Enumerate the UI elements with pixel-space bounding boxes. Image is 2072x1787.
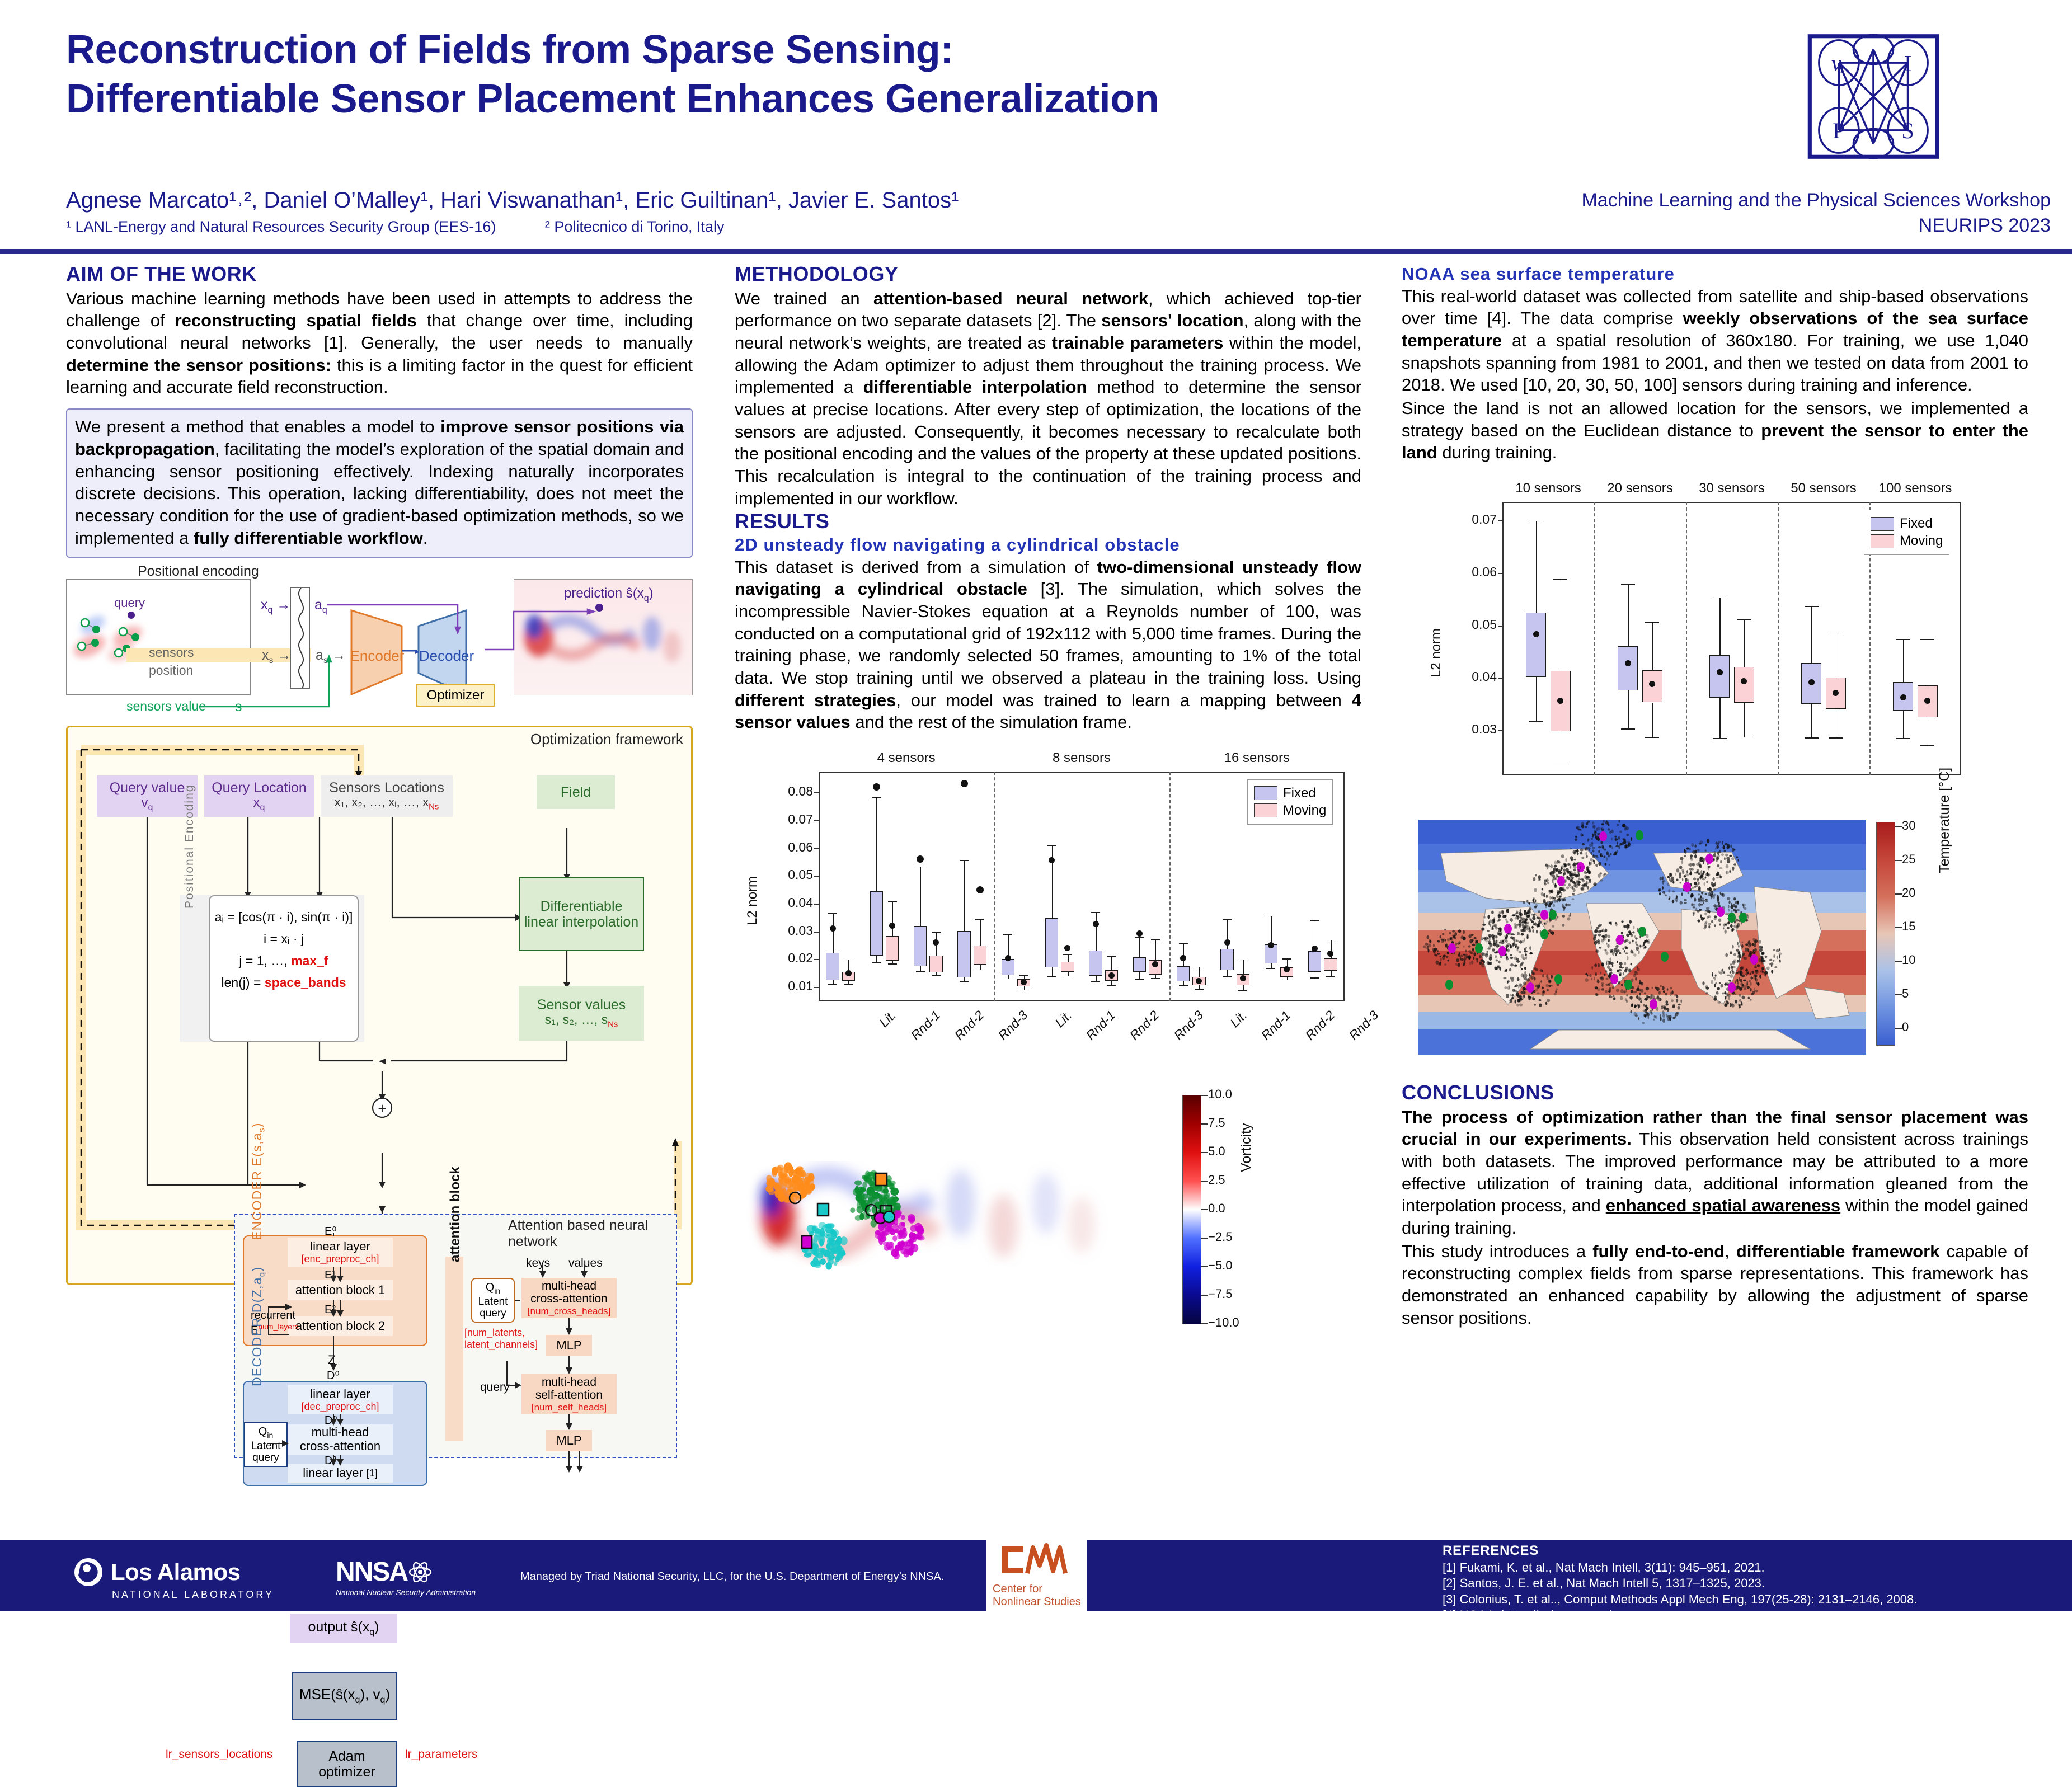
sensor-path-dot: [1730, 844, 1732, 848]
sensor-path-dot: [1554, 860, 1557, 864]
sensor-path-dot: [1425, 943, 1429, 946]
sensor-path-dot: [1646, 987, 1649, 990]
sensor-path-dot: [1523, 987, 1526, 990]
whisker-lower: [1628, 690, 1629, 729]
sensor-path-dot: [1516, 910, 1518, 914]
sensor-path-dot: [1562, 915, 1566, 918]
cap-lower: [1003, 979, 1012, 980]
sensor-path-dot: [1739, 999, 1741, 1002]
decoder-side-label: DECODER D(Z,aq): [250, 1286, 267, 1386]
sensor-path-dot: [1609, 845, 1611, 848]
y-axis-tick: 0.07: [765, 812, 813, 827]
sensor-path-dot: [1502, 915, 1506, 918]
sensor-path-dot: [1609, 831, 1611, 834]
sensor-path-dot: [1523, 990, 1525, 994]
cap-upper: [1920, 639, 1934, 641]
sensor-path-dot: [1727, 922, 1730, 925]
title-line-1: Reconstruction of Fields from Sparse Sen…: [66, 26, 1364, 75]
sensor-path-dot: [1526, 913, 1528, 914]
sensor-path-dot: [1749, 953, 1752, 956]
sensor-path-dot: [1704, 925, 1707, 928]
noaa-text-1: This real-world dataset was collected fr…: [1402, 285, 2028, 396]
x-axis-tick-label: Rnd-3: [1335, 1008, 1382, 1054]
E2-label: E²: [325, 1304, 336, 1316]
sensor-path-dot: [1542, 970, 1543, 972]
sensor-path-dot: [1741, 982, 1743, 986]
box-plot-box: [870, 891, 884, 956]
svg-text:+: +: [378, 1100, 386, 1117]
sensor-path-dot: [1722, 993, 1724, 995]
sensor-path-dot: [1728, 909, 1730, 912]
sensor-path-dot: [1752, 949, 1754, 952]
sensor-path-dot: [1526, 935, 1528, 939]
sensor-path-dot: [1599, 947, 1601, 949]
sensor-path-dot: [1507, 933, 1510, 934]
sensor-path-dot: [1580, 852, 1582, 855]
mean-marker: [1196, 978, 1202, 984]
box-plot-box: [1220, 949, 1234, 970]
sensor-path-dot: [1568, 877, 1570, 880]
sensor-path-dot: [1736, 856, 1738, 858]
sensor-path-dot: [1760, 946, 1763, 949]
final-sensor-marker: [1557, 876, 1565, 886]
sensor-path-dot: [1469, 962, 1471, 966]
colorbar-tick-mark: [1201, 1152, 1208, 1153]
cap-upper: [1310, 920, 1319, 921]
sensor-path-dot: [1524, 977, 1527, 980]
legend-entry: Moving: [1254, 803, 1326, 819]
sensor-path-dot: [1460, 955, 1463, 958]
sensor-path-dot: [1544, 879, 1547, 882]
cap-lower: [1529, 721, 1543, 722]
lr-sensors-label: lr_sensors_locations: [166, 1748, 272, 1761]
sensor-path-dot: [1454, 937, 1455, 940]
group-label: 8 sensors: [994, 750, 1169, 766]
sensor-trajectory-dot: [814, 1235, 819, 1243]
cap-upper: [1091, 912, 1100, 913]
logo-letter-v: ᴠᵣ: [1831, 50, 1847, 76]
sensor-path-dot: [1633, 953, 1636, 956]
cap-upper: [844, 960, 853, 961]
sensor-path-dot: [1614, 948, 1617, 952]
sensor-path-dot: [1759, 948, 1763, 952]
sensor-path-dot: [1681, 869, 1684, 872]
sensor-path-dot: [1725, 953, 1728, 957]
cnls-mark-icon: [986, 1540, 1087, 1580]
sensor-path-dot: [1468, 955, 1471, 959]
sensor-path-dot: [1468, 945, 1471, 947]
sensor-path-dot: [1642, 1022, 1645, 1024]
sensor-path-dot: [1520, 984, 1523, 989]
sensor-path-dot: [1725, 843, 1728, 845]
sensor-path-dot: [1712, 974, 1713, 976]
sensor-path-dot: [1494, 952, 1497, 954]
sensor-path-dot: [1708, 915, 1711, 918]
reference-item: [3] Colonius, T. et al.., Comput Methods…: [1443, 1592, 2058, 1607]
sensor-path-dot: [1609, 996, 1613, 998]
sensor-path-dot: [1750, 973, 1751, 975]
sensor-path-dot: [1509, 968, 1511, 972]
sensor-path-dot: [1694, 897, 1696, 902]
sensor-path-dot: [1471, 961, 1473, 965]
sensor-trajectory-dot: [854, 1180, 862, 1185]
final-sensor-marker: [1498, 946, 1506, 956]
mean-marker: [830, 925, 836, 932]
sensor-path-dot: [1577, 829, 1581, 831]
sensor-path-dot: [1697, 869, 1699, 873]
final-sensor-marker: [1599, 831, 1607, 841]
cap-lower: [1091, 981, 1100, 982]
sensor-path-dot: [1541, 892, 1543, 896]
sensor-path-dot: [1631, 963, 1632, 965]
sensor-path-dot: [1706, 881, 1708, 883]
sensor-path-dot: [1532, 972, 1534, 976]
sensor-path-dot: [1437, 940, 1440, 942]
sensor-path-dot: [1554, 865, 1557, 867]
whisker-lower: [1111, 981, 1112, 985]
sensor-path-dot: [1692, 886, 1693, 890]
cap-lower: [960, 981, 969, 982]
sensor-path-dot: [1587, 839, 1589, 842]
sensor-path-dot: [1779, 954, 1780, 958]
final-sensor-marker: [1616, 935, 1624, 945]
conclusions-heading: CONCLUSIONS: [1402, 1081, 2028, 1104]
sensor-path-dot: [1594, 977, 1595, 980]
sensor-path-dot: [1654, 1015, 1656, 1018]
recurrent-label: recurrent Enum_layers: [251, 1309, 299, 1337]
sensor-path-dot: [1697, 919, 1700, 922]
sensor-path-dot: [1487, 930, 1490, 932]
sensor-path-dot: [1725, 982, 1728, 985]
sensor-path-dot: [1551, 975, 1553, 979]
sensor-path-dot: [1662, 1018, 1665, 1023]
sensor-path-dot: [1571, 859, 1573, 862]
sensors-value-label: sensors value: [126, 699, 206, 714]
sensor-path-dot: [1737, 955, 1739, 958]
sensor-trajectory-dot: [767, 1181, 774, 1187]
sensor-path-dot: [1740, 979, 1742, 982]
sensor-path-dot: [1519, 1004, 1523, 1007]
sensor-path-dot: [1714, 984, 1716, 987]
sensor-path-dot: [1705, 921, 1707, 924]
whisker-lower: [980, 965, 981, 970]
sensor-path-dot: [1644, 992, 1646, 994]
sensor-path-dot: [1747, 971, 1749, 974]
sensor-path-dot: [1584, 875, 1586, 879]
box-plot-box: [826, 953, 839, 980]
sensor-path-dot: [1570, 871, 1573, 874]
sensor-path-dot: [1600, 976, 1604, 980]
sensor-path-dot: [1691, 843, 1694, 847]
sensor-path-dot: [1585, 973, 1587, 975]
sensor-path-dot: [1498, 933, 1502, 937]
sensor-path-dot: [1703, 902, 1704, 904]
sensor-path-dot: [1573, 869, 1576, 872]
y-axis-tick: 0.06: [765, 840, 813, 855]
sensor-path-dot: [1777, 956, 1778, 959]
sensor-path-dot: [1546, 974, 1548, 978]
whisker-lower: [1052, 967, 1053, 976]
sensor-path-dot: [1540, 980, 1542, 982]
sensor-path-dot: [1679, 876, 1681, 879]
sensor-path-dot: [1488, 934, 1492, 937]
sensor-path-dot: [1445, 943, 1448, 947]
chart-legend: FixedMoving: [1247, 779, 1333, 825]
sensor-path-dot: [1746, 981, 1748, 984]
whisker-lower: [964, 977, 965, 981]
results-text: This dataset is derived from a simulatio…: [735, 556, 1361, 733]
sensor-path-dot: [1479, 961, 1482, 965]
sensor-path-dot: [1499, 967, 1501, 971]
colorbar-tick-mark: [1201, 1181, 1208, 1182]
sensor-path-dot: [1736, 909, 1740, 911]
sensor-path-dot: [1708, 873, 1710, 876]
sensor-path-dot: [1666, 1000, 1669, 1003]
sensor-path-dot: [1699, 909, 1702, 911]
sensor-path-dot: [1578, 878, 1580, 880]
sensor-path-dot: [1702, 981, 1704, 985]
colorbar-tick: 7.5: [1208, 1116, 1225, 1130]
sensor-path-dot: [1626, 934, 1629, 937]
sensor-path-dot: [1610, 949, 1612, 952]
sensor-path-dot: [1595, 934, 1597, 936]
sensor-path-dot: [1549, 896, 1551, 900]
sensor-path-dot: [1538, 910, 1540, 913]
sensor-path-dot: [1708, 893, 1711, 896]
sensor-path-dot: [1575, 882, 1577, 886]
mean-marker: [1021, 979, 1027, 985]
whisker-lower: [833, 980, 834, 984]
sensor-path-dot: [1727, 845, 1730, 849]
sensor-path-dot: [1613, 995, 1615, 998]
sensor-path-dot: [1534, 1004, 1536, 1006]
whisker-upper: [1096, 912, 1097, 951]
sensor-path-dot: [1743, 980, 1746, 982]
sensor-path-dot: [1657, 995, 1659, 999]
sensor-path-dot: [1586, 855, 1588, 858]
sensor-path-dot: [1565, 858, 1567, 862]
sensor-path-dot: [1603, 820, 1605, 823]
sensor-path-dot: [1577, 852, 1579, 855]
sensor-path-dot: [1699, 888, 1701, 892]
sensor-path-dot: [1628, 942, 1631, 944]
sensor-path-dot: [1593, 860, 1595, 863]
sensor-path-dot: [1554, 884, 1557, 888]
legend-label: Moving: [1900, 533, 1943, 549]
sensor-path-dot: [1733, 909, 1736, 912]
sensor-path-dot: [1568, 915, 1570, 917]
sensor-path-dot: [1557, 860, 1559, 863]
colorbar-tick: 10: [1902, 953, 1915, 967]
sensor-path-dot: [1636, 989, 1637, 993]
sensor-path-dot: [1691, 868, 1694, 871]
sensor-path-dot: [1516, 915, 1520, 917]
sensor-path-dot: [1719, 850, 1721, 853]
sensor-path-dot: [1674, 994, 1677, 996]
colorbar-tick: 10.0: [1208, 1087, 1232, 1102]
sensor-path-dot: [1553, 904, 1555, 907]
sensor-path-dot: [1699, 843, 1702, 844]
differentiable-interpolation-box: Differentiable linear interpolation: [519, 877, 644, 951]
legend-swatch: [1254, 803, 1277, 817]
sensor-path-dot: [1548, 890, 1551, 892]
venue-name: NEURIPS 2023: [1435, 213, 2051, 238]
sensor-path-dot: [1519, 923, 1521, 927]
sensor-path-dot: [1632, 931, 1634, 933]
sensor-path-dot: [1617, 824, 1619, 826]
sensor-path-dot: [1713, 904, 1717, 907]
mean-marker: [1108, 972, 1115, 979]
sensor-path-dot: [1557, 890, 1560, 893]
sensor-path-dot: [1740, 966, 1743, 970]
optimization-framework-figure: Optimization framework: [66, 726, 693, 1285]
page-title: Reconstruction of Fields from Sparse Sen…: [66, 26, 1364, 124]
logo-letter-s: S: [1901, 118, 1914, 143]
sensor-path-dot: [1639, 993, 1641, 996]
whisker-lower: [1536, 677, 1537, 722]
sensor-path-dot: [1625, 826, 1629, 830]
sensor-path-dot: [1572, 850, 1575, 854]
sensor-path-dot: [1592, 834, 1594, 838]
sensor-path-dot: [1537, 985, 1540, 988]
mean-marker: [1093, 921, 1099, 927]
sensor-path-dot: [1485, 953, 1488, 956]
sensor-path-dot: [1671, 999, 1674, 1002]
sensor-path-dot: [1739, 958, 1740, 962]
sensor-path-dot: [1667, 988, 1669, 991]
y-axis-tick-mark: [814, 820, 819, 821]
sensor-path-dot: [1567, 917, 1570, 920]
sensor-path-dot: [1739, 941, 1740, 943]
cap-upper: [975, 919, 984, 920]
sensor-path-dot: [1724, 857, 1726, 860]
sensor-path-dot: [1556, 869, 1558, 872]
workshop-info: Machine Learning and the Physical Scienc…: [1435, 188, 2051, 238]
methodology-heading: METHODOLOGY: [735, 263, 1361, 285]
sensor-path-dot: [1730, 963, 1732, 966]
sensor-path-dot: [1626, 994, 1628, 997]
sensor-path-dot: [1533, 897, 1535, 901]
sensor-path-dot: [1595, 864, 1598, 867]
field-box: Field: [537, 775, 615, 809]
sensor-path-dot: [1716, 856, 1718, 859]
sensor-path-dot: [1552, 872, 1556, 874]
sensor-path-dot: [1600, 972, 1601, 974]
sensor-path-dot: [1505, 936, 1506, 939]
sensor-path-dot: [1435, 954, 1437, 957]
y-axis-tick: 0.06: [1449, 565, 1497, 580]
sensor-path-dot: [1426, 946, 1429, 950]
adam-optimizer-box: Adam optimizer: [297, 1741, 397, 1787]
sensor-path-dot: [1499, 911, 1501, 915]
sensor-path-dot: [1604, 863, 1606, 865]
sensor-path-dot: [1458, 953, 1460, 957]
sensor-path-dot: [1506, 909, 1509, 913]
sensor-path-dot: [1606, 820, 1607, 823]
sensor-trajectory-dot: [768, 1189, 775, 1195]
sensor-path-dot: [1633, 926, 1634, 929]
sensor-path-dot: [1564, 864, 1567, 867]
sensor-path-dot: [1607, 944, 1609, 948]
sensor-path-dot: [1495, 927, 1498, 930]
sensor-path-dot: [1708, 925, 1710, 929]
sensor-path-dot: [1532, 916, 1535, 921]
sensor-trajectory-dot: [916, 1228, 924, 1233]
sensor-trajectory-dot: [887, 1224, 891, 1232]
sensor-path-dot: [1733, 953, 1736, 956]
sensor-path-dot: [1568, 883, 1571, 887]
sensor-path-dot: [1719, 867, 1722, 869]
cap-lower: [1896, 738, 1910, 739]
whisker-lower: [1928, 717, 1929, 745]
sensor-path-dot: [1550, 901, 1553, 904]
sensor-trajectory-dot: [809, 1231, 814, 1236]
colorbar-tick: 5: [1902, 986, 1909, 1001]
whisker-upper: [1052, 845, 1053, 919]
vorticity-colorbar: [1182, 1095, 1201, 1324]
sensor-path-dot: [1551, 871, 1552, 873]
sensor-trajectory-dot: [880, 1236, 886, 1242]
sensor-path-dot: [1724, 991, 1726, 994]
whisker-lower: [1836, 709, 1837, 738]
sst-map-figure: Temperature [°C] 302520151050: [1402, 816, 2028, 1068]
initial-sensor-marker: [1475, 943, 1483, 953]
whisker-upper: [980, 919, 981, 946]
sensor-path-dot: [1470, 952, 1473, 954]
sensor-path-dot: [1650, 1010, 1653, 1013]
sensor-path-dot: [1615, 945, 1619, 948]
sensor-path-dot: [1581, 822, 1585, 826]
x-axis-tick-label: Rnd-1: [1072, 1008, 1119, 1054]
sensor-path-dot: [1543, 901, 1546, 903]
sensor-path-dot: [1440, 956, 1441, 957]
sensor-trajectory-dot: [891, 1187, 895, 1195]
sensor-path-dot: [1489, 954, 1492, 958]
sensor-path-dot: [1529, 917, 1531, 920]
sst-colorbar: [1876, 822, 1895, 1046]
sensor-path-dot: [1644, 1009, 1647, 1013]
sensor-path-dot: [1680, 901, 1683, 905]
sensor-path-dot: [1678, 1004, 1681, 1006]
sensor-path-dot: [1525, 947, 1527, 948]
sensor-path-dot: [1755, 938, 1756, 941]
sensor-path-dot: [1736, 968, 1737, 971]
sensor-path-dot: [1455, 963, 1456, 966]
sensor-path-dot: [1705, 844, 1707, 846]
cap-upper: [1621, 584, 1635, 585]
sensor-path-dot: [1689, 848, 1691, 850]
sensor-path-dot: [1598, 862, 1601, 866]
x-axis-tick-label: Rnd-2: [1291, 1008, 1338, 1054]
sensor-path-dot: [1458, 929, 1462, 933]
sensor-path-dot: [1463, 954, 1465, 956]
whisker-lower: [1903, 711, 1904, 739]
sensor-path-dot: [1618, 836, 1620, 840]
sensor-path-dot: [1636, 995, 1638, 999]
output-box: output ŝ(xq): [290, 1614, 397, 1643]
sensor-path-dot: [1694, 854, 1697, 858]
sensor-path-dot: [1723, 971, 1725, 974]
sensor-path-dot: [1693, 906, 1696, 908]
sensor-path-dot: [1517, 995, 1518, 997]
cap-lower: [828, 984, 837, 985]
sensor-path-dot: [1638, 945, 1641, 947]
sensor-path-dot: [1719, 924, 1721, 926]
whisker-upper: [1744, 619, 1745, 666]
box-plot-box: [1089, 951, 1102, 976]
sensor-path-dot: [1515, 984, 1518, 987]
sensor-path-dot: [1621, 984, 1623, 986]
